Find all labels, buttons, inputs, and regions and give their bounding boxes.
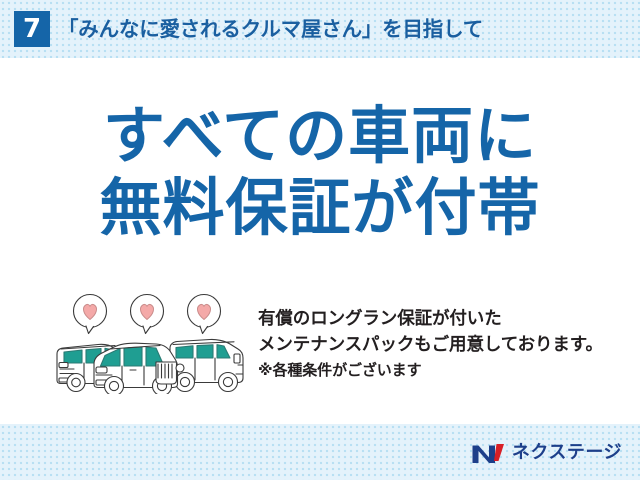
header-step-badge: 7	[14, 11, 50, 47]
header-title: 「みんなに愛されるクルマ屋さん」を目指して	[58, 14, 483, 44]
brand-logo-text: ネクステージ	[512, 441, 622, 465]
heart-bubble-center	[131, 295, 164, 334]
heart-bubble-right	[188, 295, 221, 334]
body-copy-line-2: メンテナンスパックもご用意しております。	[258, 332, 628, 358]
nextage-n-mark-icon	[471, 441, 505, 465]
headline-line-1: すべての車両に	[0, 100, 640, 172]
body-copy-line-1: 有償のロングラン保証が付いた	[258, 306, 628, 332]
headline-block: すべての車両に 無料保証が付帯	[0, 100, 640, 244]
body-copy-note: ※各種条件がございます	[258, 358, 628, 382]
warranty-banner: 7 「みんなに愛されるクルマ屋さん」を目指して すべての車両に 無料保証が付帯	[0, 0, 640, 480]
brand-logo: ネクステージ	[471, 440, 622, 466]
cars-illustration	[52, 292, 252, 394]
headline-line-2: 無料保証が付帯	[0, 172, 640, 244]
heart-bubble-left	[74, 295, 107, 334]
body-copy-block: 有償のロングラン保証が付いた メンテナンスパックもご用意しております。 ※各種条…	[258, 306, 628, 382]
